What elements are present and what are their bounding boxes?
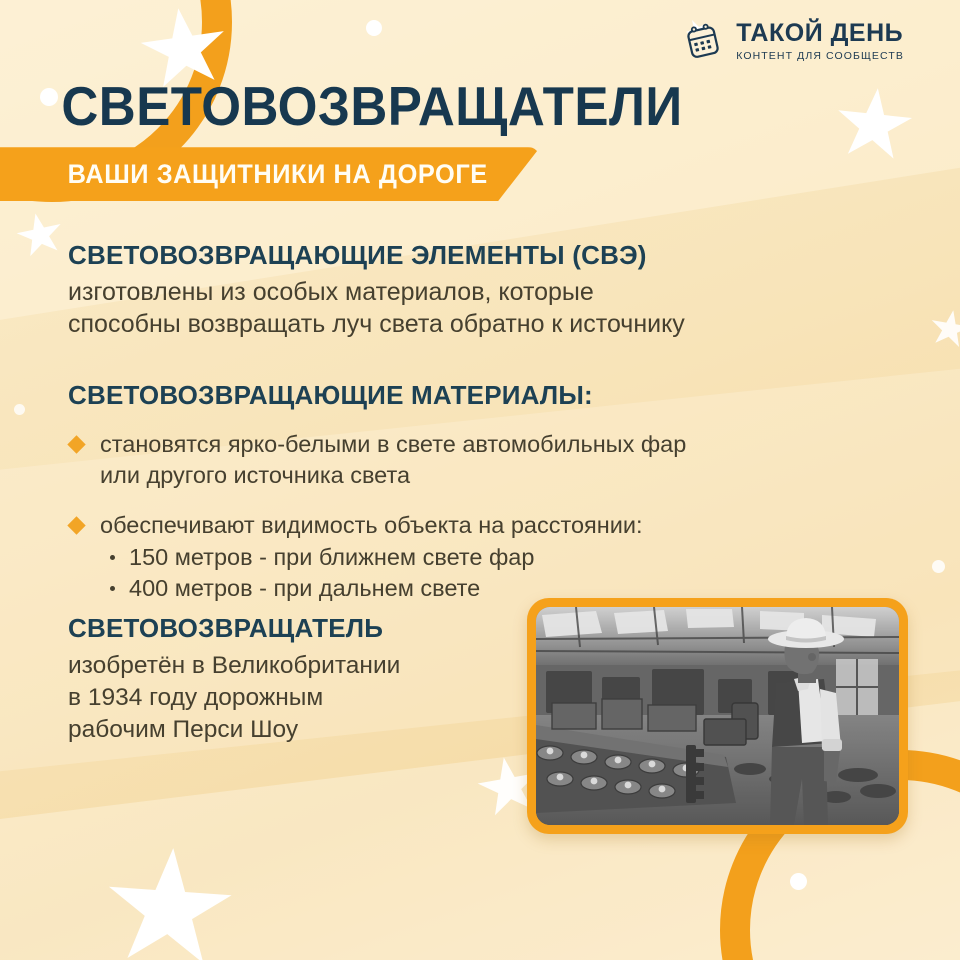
dot-icon (790, 873, 807, 890)
section-materials-heading: СВЕТОВОЗВРАЩАЮЩИЕ МАТЕРИАЛЫ: (68, 380, 904, 412)
section-elements-line-1: изготовлены из особых материалов, которы… (68, 276, 904, 308)
page-subtitle: ВАШИ ЗАЩИТНИКИ НА ДОРОГЕ (0, 159, 488, 190)
brand-logo-text: ТАКОЙ ДЕНЬ КОНТЕНТ ДЛЯ СООБЩЕСТВ (736, 21, 904, 62)
diamond-bullet-icon (67, 436, 85, 454)
sub-list-item-label: 150 метров - при ближнем свете фар (129, 544, 534, 570)
dot-icon (932, 560, 945, 573)
section-elements-line-2: способны возвращать луч света обратно к … (68, 308, 904, 340)
section-inventor-line-1: изобретён в Великобритании (68, 652, 400, 679)
section-elements-heading: СВЕТОВОЗВРАЩАЮЩИЕ ЭЛЕМЕНТЫ (СВЭ) (68, 240, 904, 272)
section-inventor-body: изобретён в Великобритании в 1934 году д… (68, 650, 498, 746)
dot-icon (14, 404, 25, 415)
section-inventor-heading: СВЕТОВОЗВРАЩАТЕЛЬ (68, 613, 498, 644)
list-item-line-1: обеспечивают видимость объекта на рассто… (100, 510, 904, 540)
section-inventor: СВЕТОВОЗВРАЩАТЕЛЬ изобретён в Великобрит… (68, 613, 498, 746)
sub-list-item-label: 400 метров - при дальнем свете (129, 575, 480, 601)
section-inventor-line-3: рабочим Перси Шоу (68, 716, 298, 743)
brand-tagline: КОНТЕНТ ДЛЯ СООБЩЕСТВ (736, 51, 904, 62)
content-area: СВЕТОВОЗВРАЩАЮЩИЕ ЭЛЕМЕНТЫ (СВЭ) изготов… (68, 240, 904, 610)
distance-sub-list: 150 метров - при ближнем свете фар 400 м… (100, 542, 904, 604)
dot-bullet-icon (110, 586, 115, 591)
page-title: СВЕТОВОЗВРАЩАТЕЛИ (0, 78, 893, 135)
calendar-star-icon (680, 18, 726, 64)
historical-photo (536, 607, 899, 825)
list-item: обеспечивают видимость объекта на рассто… (68, 510, 904, 604)
list-item-line-2: или другого источника света (100, 460, 904, 490)
section-materials: СВЕТОВОЗВРАЩАЮЩИЕ МАТЕРИАЛЫ: становятся … (68, 380, 904, 604)
list-item: становятся ярко-белыми в свете автомобил… (68, 429, 904, 489)
materials-bullet-list: становятся ярко-белыми в свете автомобил… (68, 429, 904, 603)
subtitle-banner: ВАШИ ЗАЩИТНИКИ НА ДОРОГЕ (0, 147, 540, 201)
star-icon (927, 307, 960, 351)
brand-logo: ТАКОЙ ДЕНЬ КОНТЕНТ ДЛЯ СООБЩЕСТВ (680, 18, 904, 64)
title-block: СВЕТОВОЗВРАЩАТЕЛИ ВАШИ ЗАЩИТНИКИ НА ДОРО… (0, 78, 960, 201)
section-elements: СВЕТОВОЗВРАЩАЮЩИЕ ЭЛЕМЕНТЫ (СВЭ) изготов… (68, 240, 904, 340)
diamond-bullet-icon (67, 516, 85, 534)
dot-icon (366, 20, 382, 36)
sub-list-item: 150 метров - при ближнем свете фар (100, 542, 904, 573)
star-icon (13, 209, 67, 262)
poster-canvas: ТАКОЙ ДЕНЬ КОНТЕНТ ДЛЯ СООБЩЕСТВ СВЕТОВО… (0, 0, 960, 960)
brand-name: ТАКОЙ ДЕНЬ (736, 21, 903, 46)
dot-bullet-icon (110, 555, 115, 560)
star-icon (102, 844, 236, 960)
list-item-line-1: становятся ярко-белыми в свете автомобил… (100, 429, 904, 459)
photo-frame (527, 598, 908, 834)
section-inventor-line-2: в 1934 году дорожным (68, 684, 323, 711)
